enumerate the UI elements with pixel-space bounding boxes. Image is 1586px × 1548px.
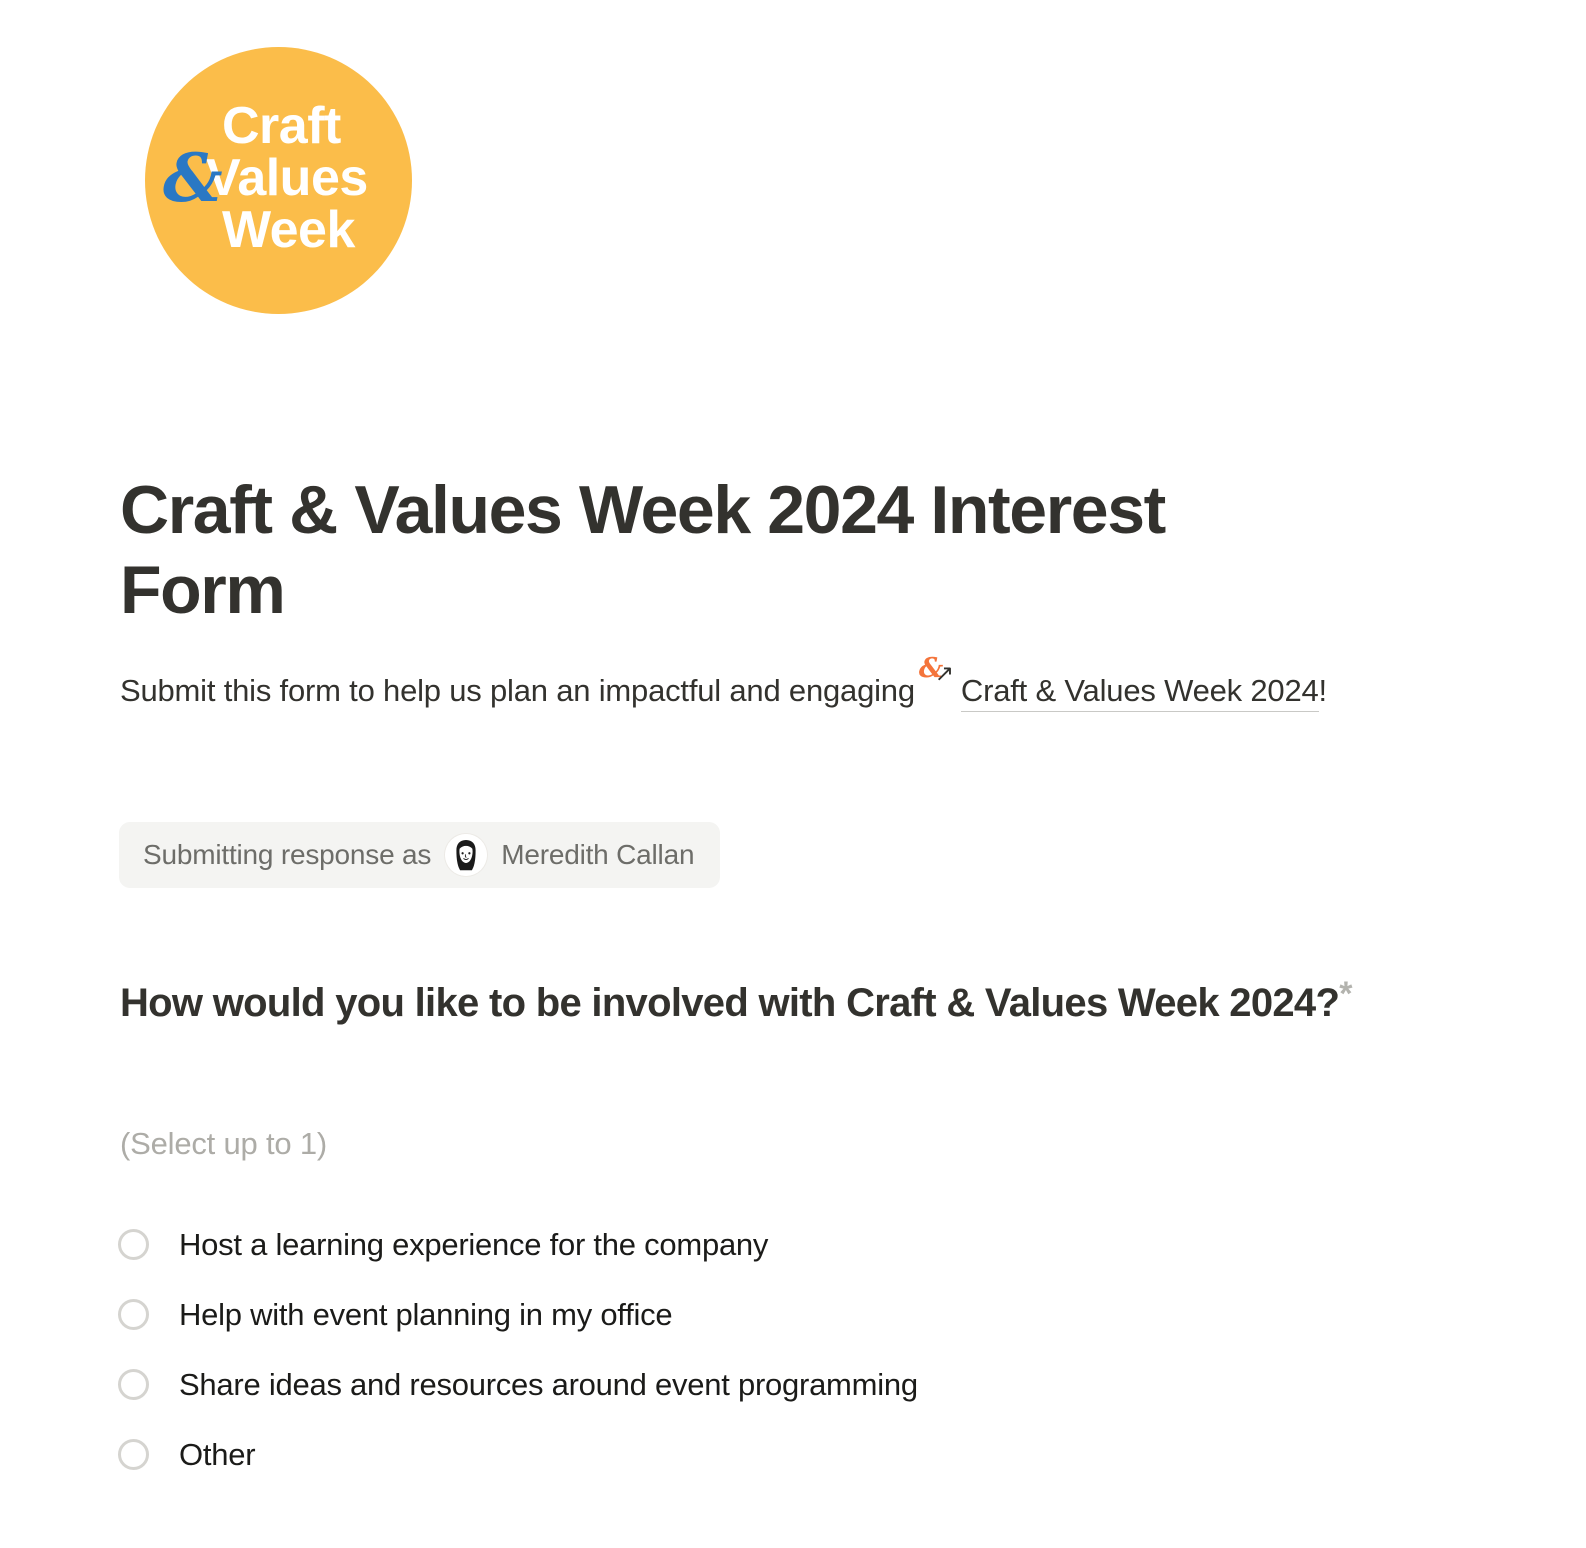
form-page: Craft Values Week & Craft & Values Week …: [0, 0, 1586, 1548]
logo-line-week: Week: [222, 204, 355, 256]
description-text-after: !: [1319, 673, 1327, 708]
form-logo: Craft Values Week &: [145, 47, 412, 314]
logo-circle: Craft Values Week &: [145, 47, 412, 314]
submitting-user-name: Meredith Callan: [501, 839, 694, 871]
radio-button-icon[interactable]: [118, 1229, 149, 1260]
submitting-response-label: Submitting response as: [143, 839, 431, 871]
radio-button-icon[interactable]: [118, 1369, 149, 1400]
page-title: Craft & Values Week 2024 Interest Form: [120, 470, 1300, 630]
option-row[interactable]: Host a learning experience for the compa…: [118, 1209, 1318, 1279]
logo-line-craft: Craft: [222, 100, 341, 152]
question-title: How would you like to be involved with C…: [120, 975, 1440, 1032]
avatar: [445, 834, 487, 876]
option-label: Share ideas and resources around event p…: [179, 1369, 918, 1400]
option-label: Host a learning experience for the compa…: [179, 1229, 768, 1260]
radio-button-icon[interactable]: [118, 1299, 149, 1330]
question-hint: (Select up to 1): [120, 1126, 327, 1162]
external-link-icon: &↗: [919, 677, 959, 701]
logo-text: Craft Values Week &: [145, 47, 412, 314]
option-row[interactable]: Other: [118, 1419, 1318, 1489]
form-description: Submit this form to help us plan an impa…: [120, 664, 1380, 717]
question-title-text: How would you like to be involved with C…: [120, 981, 1339, 1025]
option-label: Help with event planning in my office: [179, 1299, 672, 1330]
description-text-before: Submit this form to help us plan an impa…: [120, 673, 915, 708]
option-row[interactable]: Share ideas and resources around event p…: [118, 1349, 1318, 1419]
arrow-up-right-icon: ↗: [935, 663, 954, 686]
radio-button-icon[interactable]: [118, 1439, 149, 1470]
option-label: Other: [179, 1439, 255, 1470]
required-asterisk: *: [1339, 975, 1352, 1013]
submitting-response-chip: Submitting response as Meredith Callan: [119, 822, 720, 888]
question-options: Host a learning experience for the compa…: [118, 1209, 1318, 1489]
option-row[interactable]: Help with event planning in my office: [118, 1279, 1318, 1349]
logo-line-values: Values: [206, 152, 368, 204]
craft-values-week-link[interactable]: Craft & Values Week 2024: [961, 673, 1319, 712]
logo-ampersand-icon: &: [163, 145, 223, 211]
